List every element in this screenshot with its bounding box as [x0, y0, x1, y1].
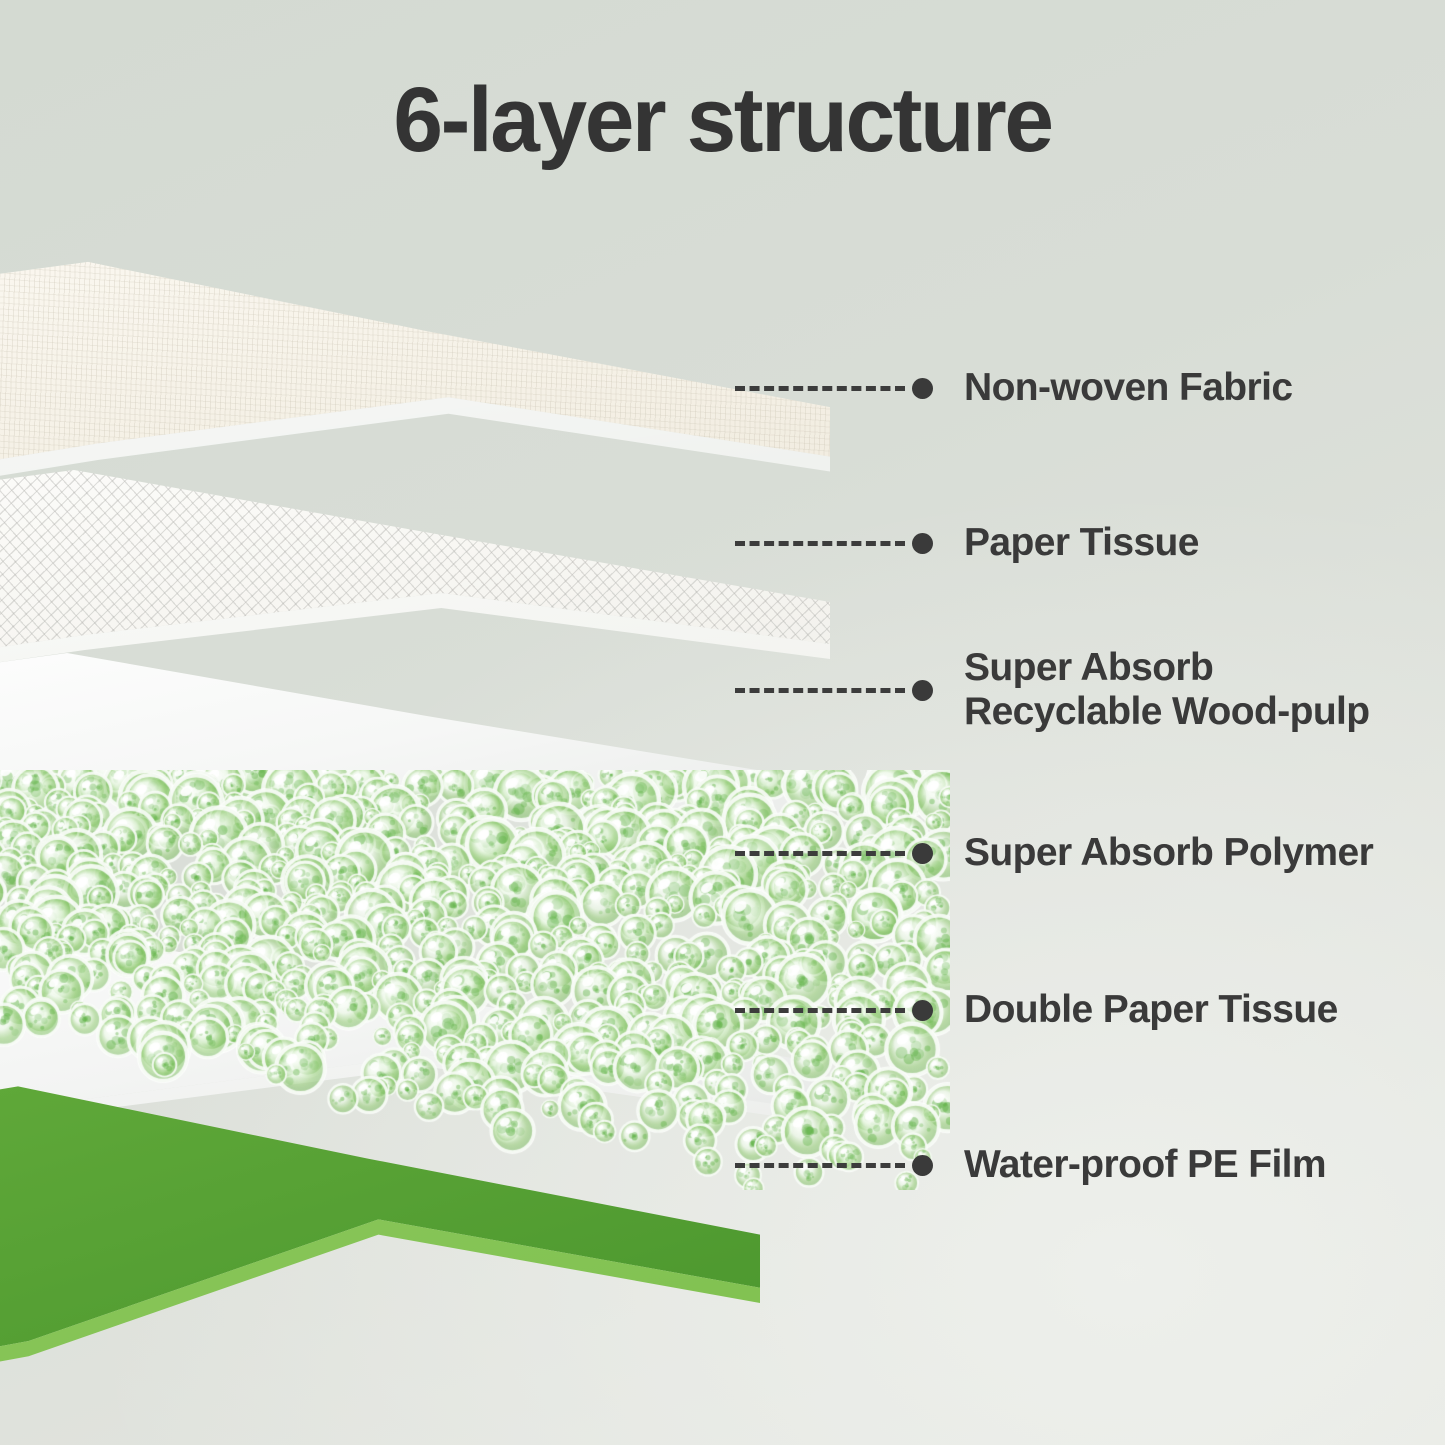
- page-title: 6-layer structure: [22, 74, 1424, 166]
- leader-line-icon: [735, 386, 905, 391]
- callout-label-super-absorb-polymer: Super Absorb Polymer: [964, 831, 1373, 875]
- double-paper-tissue-sheet: [0, 905, 810, 1205]
- bullet-dot-icon: [912, 843, 933, 864]
- bullet-dot-icon: [912, 680, 933, 701]
- callout-label-double-paper-tissue: Double Paper Tissue: [964, 988, 1338, 1032]
- callout-label-wood-pulp: Super AbsorbRecyclable Wood-pulp: [964, 646, 1370, 733]
- polymer-bead-cluster: [0, 770, 950, 1190]
- leader-line-icon: [735, 851, 905, 856]
- non-woven-fabric-edge: [0, 252, 830, 582]
- layer-art-paper-tissue: [0, 452, 830, 752]
- wood-pulp-sheet: [0, 632, 830, 932]
- paper-tissue-edge: [0, 452, 830, 752]
- layer-art-super-absorb-polymer-beads: [0, 770, 950, 1190]
- leader-line-icon: [735, 541, 905, 546]
- bullet-dot-icon: [912, 533, 933, 554]
- layer-art-double-paper-tissue: [0, 905, 810, 1205]
- pe-film-sheet: [0, 1075, 760, 1445]
- callout-label-paper-tissue: Paper Tissue: [964, 521, 1199, 565]
- callout-label-wood-pulp-line1: Super Absorb: [964, 646, 1213, 689]
- layer-art-waterproof-pe-film: [0, 1075, 760, 1445]
- leader-line-icon: [735, 688, 905, 693]
- double-paper-tissue-edge: [0, 905, 810, 1205]
- paper-tissue-sheet: [0, 452, 830, 752]
- leader-line-icon: [735, 1008, 905, 1013]
- wood-pulp-edge: [0, 632, 830, 932]
- callout-label-non-woven-fabric: Non-woven Fabric: [964, 366, 1292, 410]
- leader-line-icon: [735, 1163, 905, 1168]
- infographic-canvas: 6-layer structure Non-woven Fabric Paper…: [0, 0, 1445, 1445]
- layer-art-non-woven-fabric: [0, 252, 830, 582]
- bullet-dot-icon: [912, 1155, 933, 1176]
- pe-film-edge: [0, 1075, 760, 1445]
- bullet-dot-icon: [912, 1000, 933, 1021]
- bullet-dot-icon: [912, 378, 933, 399]
- layer-art-wood-pulp: [0, 632, 830, 932]
- callout-label-waterproof-pe-film: Water-proof PE Film: [964, 1143, 1326, 1187]
- callout-label-wood-pulp-line2: Recyclable Wood-pulp: [964, 690, 1370, 733]
- non-woven-fabric-sheet: [0, 252, 830, 582]
